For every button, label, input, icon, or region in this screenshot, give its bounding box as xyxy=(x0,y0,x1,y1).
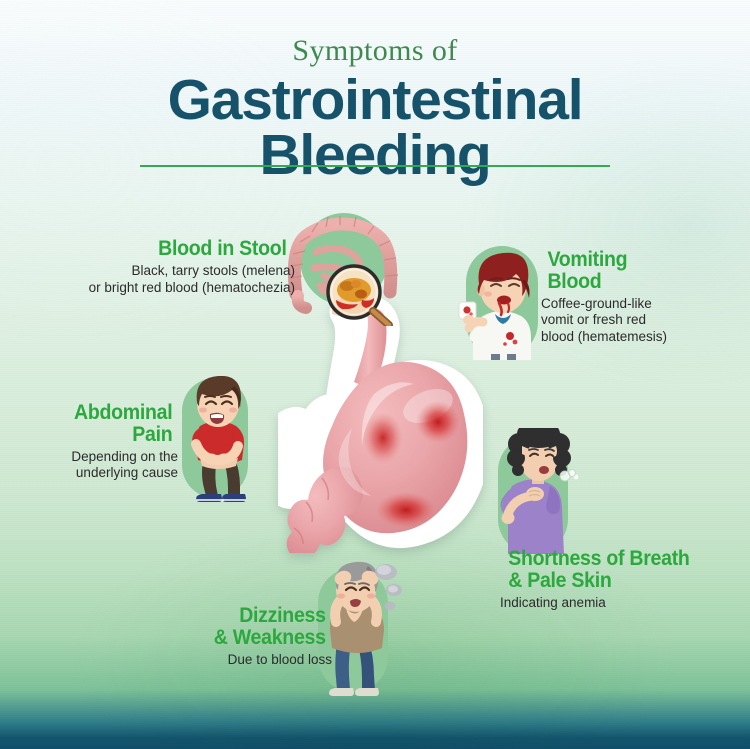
desc-line: underlying cause xyxy=(18,465,178,482)
desc-line: Coffee-ground-like xyxy=(541,296,726,313)
symptom-dizziness-weakness[interactable]: Dizziness & Weakness Due to blood loss xyxy=(152,605,332,668)
symptom-title-vomiting-blood: Vomiting Blood xyxy=(547,249,719,293)
infographic-poster: Symptoms of Gastrointestinal Bleeding xyxy=(0,0,750,749)
script-subtitle: Symptoms of xyxy=(0,36,750,66)
desc-line: Depending on the xyxy=(18,449,178,466)
bleed-spot-1 xyxy=(416,401,460,443)
desc-line: Indicating anemia xyxy=(500,595,735,612)
title-line: Vomiting xyxy=(547,249,719,271)
page-title-line2: Bleeding xyxy=(0,128,750,183)
symptom-desc-abdominal-pain: Depending on the underlying cause xyxy=(18,449,178,482)
symptom-title-dizziness-weakness: Dizziness & Weakness xyxy=(158,605,325,649)
title-line: Abdominal xyxy=(24,402,173,424)
desc-line: or bright red blood (hematochezia) xyxy=(55,280,295,297)
symptom-shortness-of-breath[interactable]: Shortness of Breath & Pale Skin Indicati… xyxy=(500,548,735,611)
symptom-desc-vomiting-blood: Coffee-ground-like vomit or fresh red bl… xyxy=(541,296,726,346)
symptom-desc-blood-in-stool: Black, tarry stools (melena) or bright r… xyxy=(55,263,295,296)
symptom-vomiting-blood[interactable]: Vomiting Blood Coffee-ground-like vomit … xyxy=(541,249,726,346)
poster-header: Symptoms of Gastrointestinal Bleeding xyxy=(0,36,750,182)
symptom-desc-shortness-of-breath: Indicating anemia xyxy=(500,595,735,612)
desc-line: blood (hematemesis) xyxy=(541,329,726,346)
desc-line: Black, tarry stools (melena) xyxy=(55,263,295,280)
symptom-title-shortness-of-breath: Shortness of Breath & Pale Skin xyxy=(508,548,727,592)
symptom-desc-dizziness-weakness: Due to blood loss xyxy=(152,652,332,669)
desc-line: Due to blood loss xyxy=(152,652,332,669)
symptom-blood-in-stool[interactable]: Blood in Stool Black, tarry stools (mele… xyxy=(55,238,295,296)
boy-vomiting-illustration xyxy=(455,244,550,365)
intestine-magnifier-illustration xyxy=(276,216,404,331)
bleed-spot-3 xyxy=(376,492,436,528)
title-divider xyxy=(140,165,610,167)
title-line: Pain xyxy=(24,424,173,446)
woman-breathless-illustration xyxy=(492,428,586,561)
symptom-title-abdominal-pain: Abdominal Pain xyxy=(24,402,173,446)
boy-stomach-ache-illustration xyxy=(176,376,260,509)
symptom-title-blood-in-stool: Blood in Stool xyxy=(63,238,286,260)
bleed-spot-2 xyxy=(363,412,403,464)
stomach-with-bleeding-illustration xyxy=(278,298,483,553)
title-line: Blood xyxy=(547,271,719,293)
title-line: & Pale Skin xyxy=(508,570,727,592)
desc-line: vomit or fresh red xyxy=(541,312,726,329)
title-line: & Weakness xyxy=(158,627,325,649)
page-title-line1: Gastrointestinal xyxy=(0,73,750,128)
title-line: Shortness of Breath xyxy=(508,548,727,570)
symptom-abdominal-pain[interactable]: Abdominal Pain Depending on the underlyi… xyxy=(18,402,178,482)
title-line: Dizziness xyxy=(158,605,325,627)
